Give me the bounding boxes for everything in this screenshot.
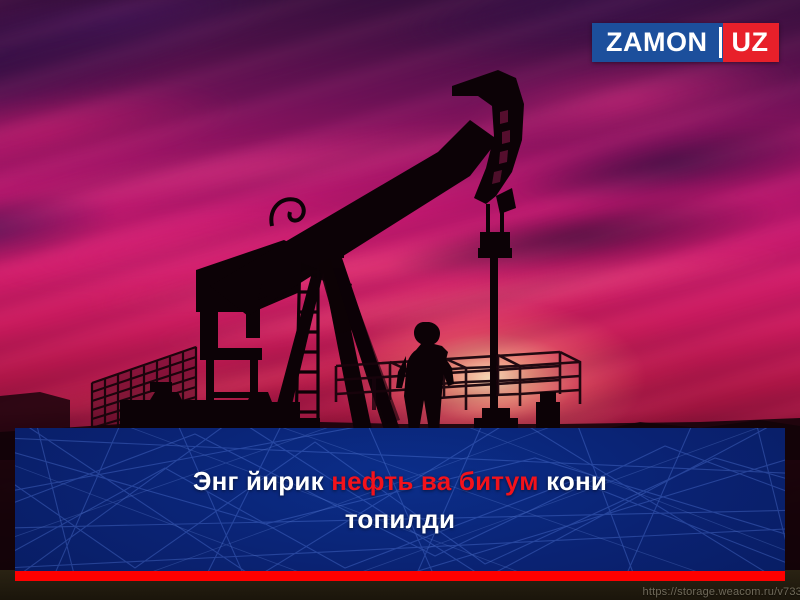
headline-text-block: Энг йирик нефть ва битум кони топилди bbox=[15, 428, 785, 571]
zamon-uz-logo[interactable]: ZAMON UZ bbox=[592, 23, 779, 62]
logo-primary-block: ZAMON bbox=[592, 23, 719, 62]
headline-segment-2: кони bbox=[539, 466, 607, 496]
news-card-image: ZAMON UZ bbox=[0, 0, 800, 600]
logo-secondary-block: UZ bbox=[723, 23, 779, 62]
logo-divider bbox=[719, 23, 723, 62]
headline-line-1: Энг йирик нефть ва битум кони bbox=[193, 463, 607, 500]
accent-red-bar bbox=[15, 571, 785, 581]
logo-primary-text: ZAMON bbox=[606, 29, 707, 56]
logo-secondary-text: UZ bbox=[731, 29, 768, 56]
headline-highlight: нефть ва битум bbox=[331, 466, 538, 496]
source-url-watermark: https://storage.weacom.ru/v733 bbox=[643, 586, 800, 598]
headline-line-2: топилди bbox=[345, 501, 455, 538]
headline-banner: Энг йирик нефть ва битум кони топилди bbox=[15, 428, 785, 571]
headline-segment-1: Энг йирик bbox=[193, 466, 331, 496]
